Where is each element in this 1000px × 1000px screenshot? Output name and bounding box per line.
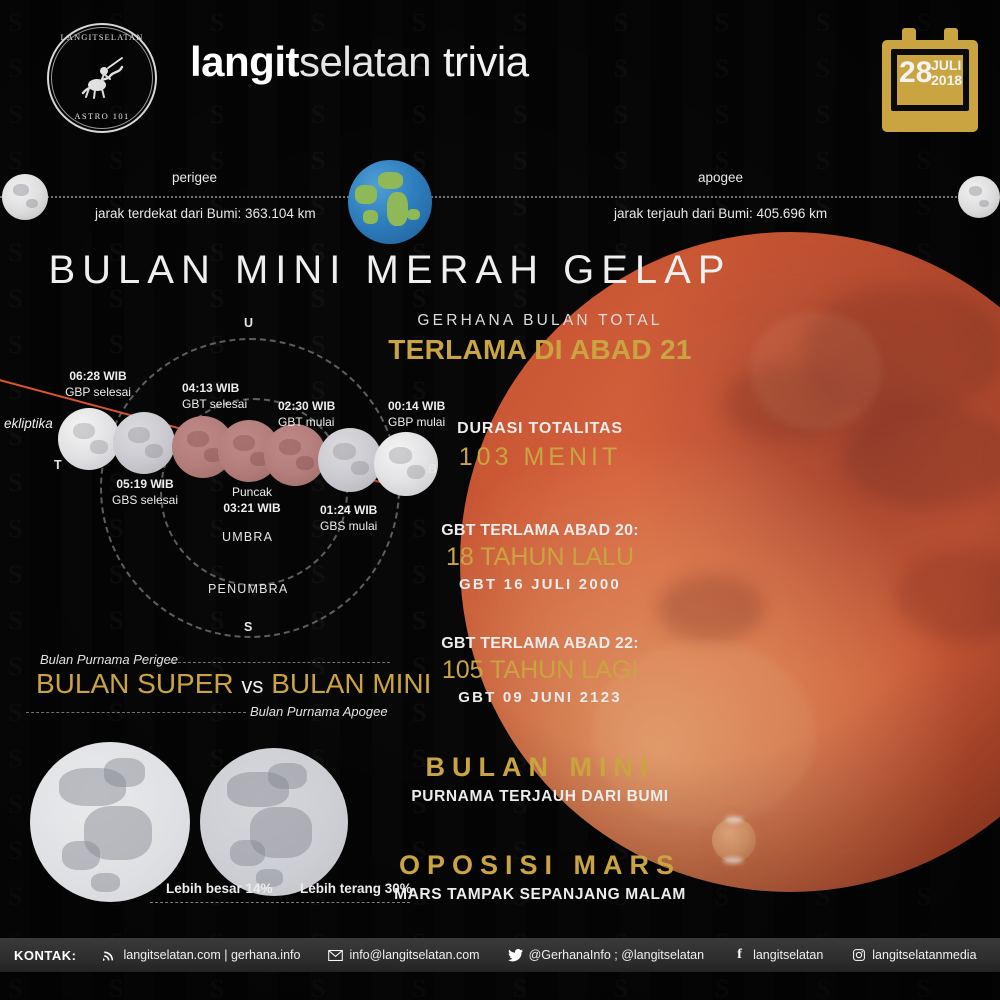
comparison-title-vs: vs bbox=[241, 673, 263, 698]
phase-label-gbt-selesai: 04:13 WIB GBT selesai bbox=[182, 380, 247, 412]
phase-event: GBP selesai bbox=[65, 385, 131, 399]
phase-time: 06:28 WIB bbox=[69, 369, 126, 383]
eclipse-moon-gbt-mulai bbox=[264, 424, 326, 486]
footer-item-instagram[interactable]: langitselatanmedia bbox=[837, 948, 990, 962]
peak-time: 03:21 WIB bbox=[223, 501, 280, 515]
orbit-dotted-line bbox=[0, 196, 1000, 198]
bottom-dashed-rule bbox=[26, 712, 246, 713]
phase-time: 01:24 WIB bbox=[320, 503, 377, 517]
phase-time: 02:30 WIB bbox=[278, 399, 335, 413]
footer-item-website[interactable]: langitselatan.com | gerhana.info bbox=[88, 948, 314, 962]
orbit-distance-band: perigee jarak terdekat dari Bumi: 363.10… bbox=[0, 150, 1000, 250]
footer-item-text: info@langitselatan.com bbox=[349, 948, 479, 962]
seal-bottom-text: ASTRO 101 bbox=[47, 111, 157, 121]
horse-rider-icon bbox=[77, 55, 127, 101]
duration-value: 103 MENIT bbox=[380, 443, 700, 472]
instagram-icon bbox=[851, 949, 866, 962]
twitter-icon bbox=[508, 949, 523, 962]
comparison-caption-rule bbox=[150, 902, 410, 903]
top-dashed-rule bbox=[168, 662, 390, 663]
supermoon-disc bbox=[30, 742, 190, 902]
calendar-year: 2018 bbox=[931, 73, 962, 87]
total-eclipse-highlight: TERLAMA DI ABAD 21 bbox=[380, 334, 700, 366]
comparison-title: BULAN SUPER vs BULAN MINI bbox=[36, 668, 431, 700]
diagram-point-t: T bbox=[54, 458, 62, 472]
earth-icon bbox=[348, 160, 432, 244]
brand-light: selatan bbox=[299, 38, 431, 85]
phase-event: GBS mulai bbox=[320, 519, 377, 533]
comparison-title-right: BULAN MINI bbox=[271, 668, 431, 699]
contact-footer: KONTAK: langitselatan.com | gerhana.info… bbox=[0, 938, 1000, 972]
langitselatan-logo: LANGITSELATAN ASTRO 101 bbox=[33, 23, 173, 133]
apogee-label: apogee bbox=[698, 170, 743, 185]
seal-top-text: LANGITSELATAN bbox=[47, 32, 157, 42]
footer-item-twitter[interactable]: @GerhanaInfo ; @langitselatan bbox=[494, 948, 718, 962]
minimoon-disc bbox=[200, 748, 348, 896]
date-badge: 28 JULI 2018 bbox=[882, 28, 978, 132]
phase-label-gbp-selesai: 06:28 WIB GBP selesai bbox=[58, 368, 138, 400]
brand-title: langitselatantrivia bbox=[190, 38, 529, 86]
footer-item-text: langitselatan bbox=[753, 948, 823, 962]
facts-column: GERHANA BULAN TOTAL TERLAMA DI ABAD 21 D… bbox=[380, 312, 700, 904]
phase-label-gbs-selesai: 05:19 WIB GBS selesai bbox=[100, 476, 190, 508]
supermoon-vs-minimoon-section: Bulan Purnama Perigee BULAN SUPER vs BUL… bbox=[0, 652, 420, 942]
brand-bold: langit bbox=[190, 38, 299, 85]
umbra-label: UMBRA bbox=[222, 530, 273, 544]
calendar-day: 28 bbox=[899, 58, 932, 88]
diagram-point-s: S bbox=[244, 620, 252, 634]
footer-item-text: @GerhanaInfo ; @langitselatan bbox=[529, 948, 704, 962]
phase-label-gbs-mulai: 01:24 WIB GBS mulai bbox=[320, 502, 377, 534]
abad20-caption: GBT TERLAMA ABAD 20: bbox=[380, 522, 700, 540]
phase-event: GBT selesai bbox=[182, 397, 247, 411]
calendar-month: JULI bbox=[931, 58, 961, 72]
phase-event: GBT mulai bbox=[278, 415, 334, 429]
ecliptic-label: ekliptika bbox=[4, 416, 53, 431]
mars-opposition-subtitle: MARS TAMPAK SEPANJANG MALAM bbox=[380, 886, 700, 904]
peak-label: Puncak bbox=[232, 485, 272, 499]
footer-item-facebook[interactable]: f langitselatan bbox=[718, 948, 837, 962]
footer-item-text: langitselatanmedia bbox=[872, 948, 976, 962]
kontak-label: KONTAK: bbox=[0, 948, 88, 963]
footer-item-text: langitselatan.com | gerhana.info bbox=[123, 948, 300, 962]
abad22-caption: GBT TERLAMA ABAD 22: bbox=[380, 635, 700, 653]
footer-item-email[interactable]: info@langitselatan.com bbox=[314, 948, 493, 962]
total-eclipse-kicker: GERHANA BULAN TOTAL bbox=[380, 312, 700, 330]
facebook-icon: f bbox=[732, 949, 747, 962]
perigee-detail: jarak terdekat dari Bumi: 363.104 km bbox=[95, 206, 316, 221]
mini-moon-subtitle: PURNAMA TERJAUH DARI BUMI bbox=[380, 788, 700, 806]
mars-opposition-title: OPOSISI MARS bbox=[380, 850, 700, 881]
rss-icon bbox=[102, 949, 117, 962]
perigee-full-moon-label: Bulan Purnama Perigee bbox=[40, 652, 178, 667]
penumbra-label: PENUMBRA bbox=[208, 582, 288, 596]
caption-bigger-percent: Lebih besar 14% bbox=[166, 881, 273, 896]
duration-caption: DURASI TOTALITAS bbox=[380, 420, 700, 438]
apogee-detail: jarak terjauh dari Bumi: 405.696 km bbox=[614, 206, 827, 221]
eclipse-moon-gbs-selesai bbox=[113, 412, 175, 474]
moon-apogee-icon bbox=[958, 176, 1000, 218]
brand-third: trivia bbox=[443, 38, 529, 85]
moon-perigee-icon bbox=[2, 174, 48, 220]
abad20-value: 18 TAHUN LALU bbox=[380, 543, 700, 572]
eclipse-moon-gbp-selesai bbox=[58, 408, 120, 470]
phase-event: GBS selesai bbox=[112, 493, 178, 507]
footer-item-googleplus[interactable]: G +LangitselatanMedia bbox=[991, 948, 1000, 962]
mars-planet-icon bbox=[712, 818, 756, 862]
perigee-label: perigee bbox=[172, 170, 217, 185]
eclipse-moon-gbs-mulai bbox=[318, 428, 382, 492]
phase-label-puncak: Puncak 03:21 WIB bbox=[216, 484, 288, 516]
page-title: BULAN MINI MERAH GELAP bbox=[0, 248, 780, 293]
mini-moon-title: BULAN MINI bbox=[380, 752, 700, 783]
caption-brighter-percent: Lebih terang 30% bbox=[300, 881, 412, 896]
phase-time: 05:19 WIB bbox=[116, 477, 173, 491]
phase-label-gbt-mulai: 02:30 WIB GBT mulai bbox=[278, 398, 335, 430]
phase-time: 04:13 WIB bbox=[182, 381, 239, 395]
diagram-point-u: U bbox=[244, 316, 253, 330]
abad20-date: GBT 16 JULI 2000 bbox=[380, 576, 700, 593]
header: LANGITSELATAN ASTRO 101 langitselatantri… bbox=[0, 0, 1000, 150]
envelope-icon bbox=[328, 949, 343, 962]
comparison-title-left: BULAN SUPER bbox=[36, 668, 234, 699]
apogee-full-moon-label: Bulan Purnama Apogee bbox=[250, 704, 388, 719]
